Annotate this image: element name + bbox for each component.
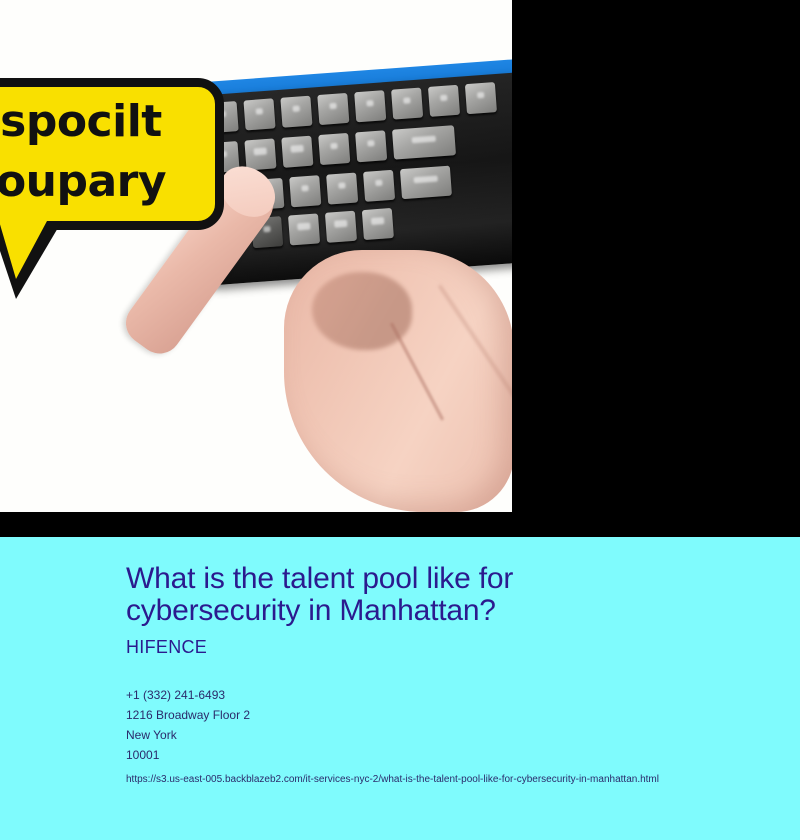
contact-phone[interactable]: +1 (332) 241-6493 [126, 685, 774, 705]
hand-palm [284, 250, 512, 512]
skin-crease [438, 284, 512, 418]
keyboard-key [243, 98, 275, 130]
pointing-hand [232, 162, 512, 512]
key-glyph-icon [403, 97, 410, 103]
key-glyph-icon [412, 136, 436, 144]
page-title: What is the talent pool like for cyberse… [126, 563, 596, 627]
key-glyph-icon [290, 145, 303, 153]
source-url[interactable]: https://s3.us-east-005.backblazeb2.com/i… [126, 773, 774, 787]
speech-bubble-line-1: spocilt [0, 92, 224, 152]
key-glyph-icon [366, 100, 373, 106]
speech-bubble: spocilt oupary [0, 78, 228, 293]
key-glyph-icon [440, 95, 447, 101]
keyboard-key [354, 90, 386, 122]
key-glyph-icon [330, 143, 337, 149]
key-glyph-icon [256, 108, 263, 114]
keyboard-key [392, 125, 456, 159]
speech-bubble-text: spocilt oupary [0, 92, 224, 212]
key-glyph-icon [329, 103, 336, 109]
keyboard-photo: spocilt oupary [0, 0, 512, 512]
page-root: spocilt oupary What is the talent pool l… [0, 0, 800, 840]
contact-block: +1 (332) 241-6493 1216 Broadway Floor 2 … [126, 685, 774, 765]
keyboard-key [355, 130, 387, 162]
hero-image: spocilt oupary [0, 0, 512, 512]
contact-address-line1: 1216 Broadway Floor 2 [126, 705, 774, 725]
keyboard-key [465, 82, 497, 114]
key-glyph-icon [367, 140, 374, 146]
keyboard-key [391, 87, 423, 119]
brand-name: HIFENCE [126, 636, 774, 658]
speech-bubble-line-2: oupary [0, 152, 224, 212]
skin-crease [390, 322, 444, 421]
contact-city: New York [126, 725, 774, 745]
keyboard-key [428, 85, 460, 117]
keyboard-key [280, 96, 312, 128]
contact-postal-code: 10001 [126, 745, 774, 765]
keyboard-key [318, 133, 350, 165]
keyboard-key [317, 93, 349, 125]
caption-content: What is the talent pool like for cyberse… [126, 563, 774, 787]
key-glyph-icon [477, 92, 484, 98]
key-glyph-icon [253, 147, 266, 155]
caption-panel: What is the talent pool like for cyberse… [0, 537, 800, 840]
speech-bubble-tail-icon [0, 221, 62, 299]
key-glyph-icon [292, 105, 299, 111]
